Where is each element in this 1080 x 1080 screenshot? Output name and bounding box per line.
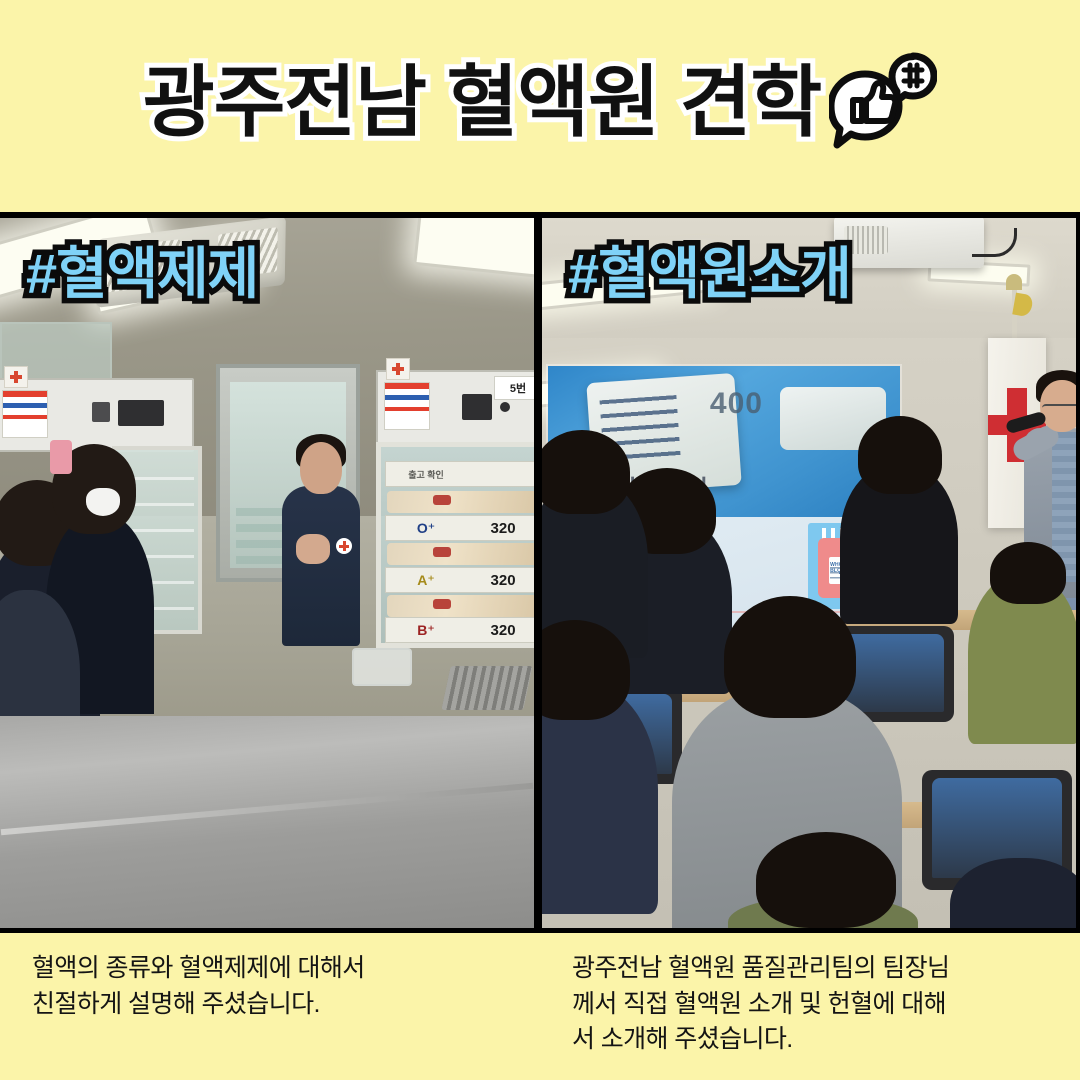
thumbs-up-hashtag-speech-bubble-icon [829,52,937,152]
fridge-control-panel [118,400,164,426]
red-cross-badge-icon [336,538,352,554]
blood-fridge-left [0,378,194,452]
cabinet-number-label: 5번 [494,376,534,400]
biohazard-sticker-icon [4,366,28,388]
shelf-header-label: 출고 확인 [385,461,534,487]
blood-bag-stack [387,595,534,617]
blood-bag-stack [387,491,534,513]
caption-line: 친절하게 설명해 주셨습니다. [32,987,522,1023]
photo-right-center-intro: 400 헌혈에 대해서 품질관리팀 박윤수 WHOLE BLOOD AB+ [542,218,1076,928]
blood-bag-stack [387,543,534,565]
fridge-info-label [384,382,430,430]
blood-storage-glass-door: 출고 확인 O⁺ 320 A⁺ 320 B⁺ [376,442,534,648]
shelf-blood-type: O⁺ [386,520,466,537]
caption-line: 혈액의 종류와 혈액제제에 대해서 [32,951,522,987]
speaker-glasses [1042,404,1076,414]
audience-member-head [858,416,942,494]
audience-member-head [542,430,630,514]
shelf-row: A⁺ 320 [385,567,534,593]
poster-card: 광주전남 혈액원 견학 [0,0,1080,1080]
poster-header: 광주전남 혈액원 견학 [0,0,1080,212]
hair-clip [50,440,72,474]
slide-bag-volume: 400 [710,387,763,421]
staff-presenter-hands [296,534,330,564]
audience-member-head [756,832,896,928]
shelf-row: B⁺ 320 [385,617,534,643]
lab-scene: 5번 출고 확인 O⁺ 320 A⁺ 320 [0,218,534,928]
shelf-blood-type: B⁺ [386,622,466,639]
shelf-quantity: 320 [466,520,534,537]
lecture-room-scene: 400 헌혈에 대해서 품질관리팀 박윤수 WHOLE BLOOD AB+ [542,218,1076,928]
empty-tube-rack [441,666,532,710]
face-mask [86,488,120,516]
biohazard-sticker-icon [386,358,410,380]
shelf-row: O⁺ 320 [385,515,534,541]
audience-member-head [990,542,1066,604]
caption-row: 혈액의 종류와 혈액제제에 대해서 친절하게 설명해 주셨습니다. 광주전남 혈… [0,933,1080,1080]
title-wrap: 광주전남 혈액원 견학 [143,52,937,152]
caption-left: 혈액의 종류와 혈액제제에 대해서 친절하게 설명해 주셨습니다. [0,933,540,1080]
caption-right: 광주전남 혈액원 품질관리팀의 팀장님 께서 직접 혈액원 소개 및 헌혈에 대… [540,933,1080,1080]
fridge-card-reader [462,394,492,420]
hashtag-label-right: #혈액원소개 [568,246,851,302]
shelf-quantity: 320 [466,572,534,589]
caption-line: 께서 직접 혈액원 소개 및 헌혈에 대해 [572,987,1062,1023]
hashtag-label-left: #혈액제제 [26,246,258,302]
fridge-info-label [2,390,48,438]
caption-line: 서 소개해 주셨습니다. [572,1022,1062,1058]
shelf-blood-type: A⁺ [386,572,466,589]
staff-presenter-body [282,486,360,646]
page-title: 광주전남 혈액원 견학 [143,63,821,141]
photo-left-blood-products: 5번 출고 확인 O⁺ 320 A⁺ 320 [0,218,534,928]
ceiling-projector [834,218,984,268]
fridge-indicator [500,402,510,412]
flag-finial [1006,274,1022,290]
supply-bin [352,648,412,686]
staff-presenter-head [300,442,342,494]
photo-band: 5번 출고 확인 O⁺ 320 A⁺ 320 [0,212,1080,933]
shelf-quantity: 320 [466,622,534,639]
shelf-note: 출고 확인 [386,468,466,481]
caption-line: 광주전남 혈액원 품질관리팀의 팀장님 [572,951,1062,987]
fridge-display [92,402,110,422]
audience-member-head [724,596,856,718]
